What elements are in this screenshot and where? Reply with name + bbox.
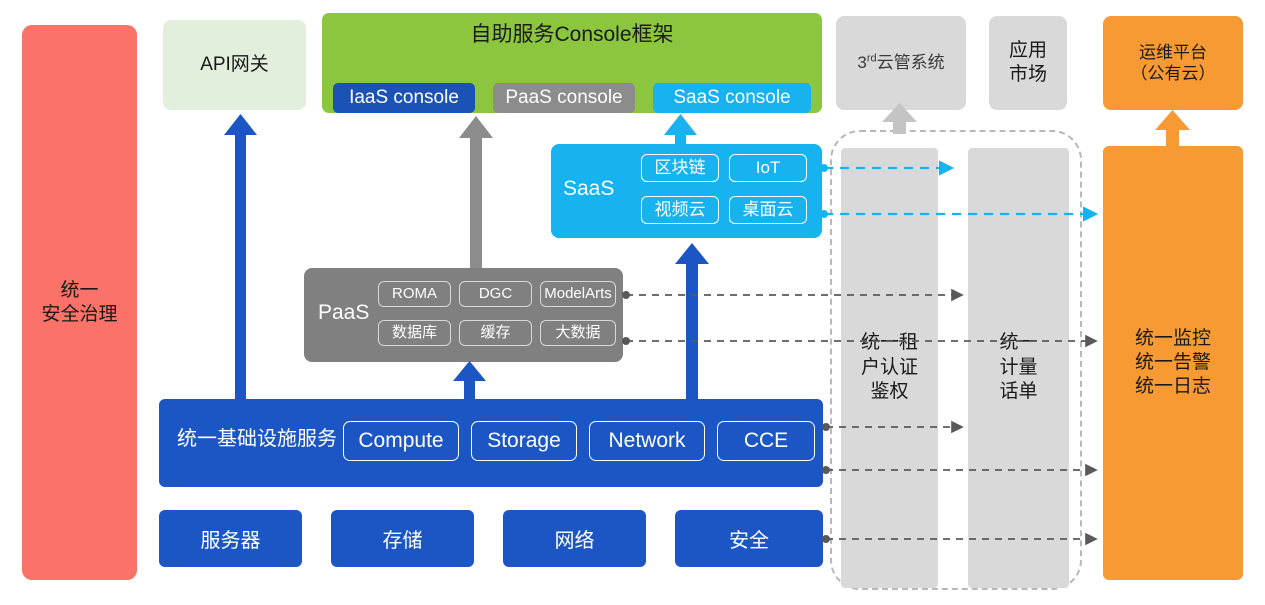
saas-chip-desktop-cloud[interactable]: 桌面云 (729, 196, 807, 224)
arrow-saas-to-saas-console (664, 114, 697, 146)
api-gateway-box: API网关 (163, 20, 306, 110)
api-gateway-label: API网关 (200, 53, 269, 77)
paas-chip-bigdata[interactable]: 大数据 (540, 320, 616, 346)
console-framework-title: 自助服务Console框架 (322, 22, 822, 48)
app-market-box: 应用 市场 (989, 16, 1067, 110)
saas-chip-blockchain[interactable]: 区块链 (641, 154, 719, 182)
iaas-console-chip[interactable]: IaaS console (333, 83, 475, 113)
unified-tenant-auth-column: 统一租 户认证 鉴权 (841, 148, 938, 588)
unified-infrastructure-label: 统一基础设施服务 (177, 427, 337, 452)
unified-security-governance-panel: 统一 安全治理 (22, 25, 137, 580)
infra-chip-cce[interactable]: CCE (717, 421, 815, 461)
app-market-label: 应用 市场 (1009, 39, 1047, 87)
paas-chip-database[interactable]: 数据库 (378, 320, 451, 346)
saas-layer-block: SaaS 区块链 IoT 视频云 桌面云 (551, 144, 822, 238)
hardware-box-network[interactable]: 网络 (503, 510, 646, 567)
unified-tenant-auth-label: 统一租 户认证 鉴权 (861, 331, 918, 405)
paas-layer-label: PaaS (318, 300, 369, 326)
ops-platform-top-label: 运维平台 （公有云） (1131, 42, 1216, 85)
unified-metering-billing-column: 统一 计量 话单 (968, 148, 1069, 588)
third-party-cloud-management-box: 3rd云管系统 (836, 16, 966, 110)
security-pillar-label: 统一 安全治理 (41, 279, 117, 327)
infra-chip-network[interactable]: Network (589, 421, 705, 461)
paas-chip-modelarts[interactable]: ModelArts (540, 281, 616, 307)
arrow-infra-to-api-gateway (224, 114, 257, 399)
infra-chip-storage[interactable]: Storage (471, 421, 577, 461)
paas-chip-cache[interactable]: 缓存 (459, 320, 532, 346)
saas-console-chip[interactable]: SaaS console (653, 83, 811, 113)
ops-platform-public-cloud-box: 运维平台 （公有云） (1103, 16, 1243, 110)
paas-console-chip[interactable]: PaaS console (493, 83, 635, 113)
paas-chip-dgc[interactable]: DGC (459, 281, 532, 307)
unified-monitoring-alarm-log-panel: 统一监控 统一告警 统一日志 (1103, 146, 1243, 580)
saas-chip-iot[interactable]: IoT (729, 154, 807, 182)
arrow-ops-main-to-ops-top (1155, 110, 1190, 146)
self-service-console-framework: 自助服务Console框架 IaaS console PaaS console … (322, 13, 822, 113)
paas-layer-block: PaaS ROMA DGC ModelArts 数据库 缓存 大数据 (304, 268, 623, 362)
saas-layer-label: SaaS (563, 176, 614, 202)
unified-metering-billing-label: 统一 计量 话单 (999, 331, 1037, 405)
arrow-paas-to-console (459, 116, 493, 268)
unified-infrastructure-service-block: 统一基础设施服务 Compute Storage Network CCE (159, 399, 823, 487)
arrow-infra-to-saas (675, 243, 709, 399)
paas-chip-roma[interactable]: ROMA (378, 281, 451, 307)
arrow-infra-to-paas (453, 361, 486, 399)
hardware-box-security[interactable]: 安全 (675, 510, 823, 567)
ops-platform-main-label: 统一监控 统一告警 统一日志 (1135, 327, 1211, 398)
hardware-box-server[interactable]: 服务器 (159, 510, 302, 567)
third-party-cloud-label: 3rd云管系统 (857, 52, 944, 73)
architecture-diagram: 统一 安全治理 API网关 自助服务Console框架 IaaS console… (0, 0, 1265, 605)
saas-chip-video-cloud[interactable]: 视频云 (641, 196, 719, 224)
hardware-box-storage[interactable]: 存储 (331, 510, 474, 567)
infra-chip-compute[interactable]: Compute (343, 421, 459, 461)
